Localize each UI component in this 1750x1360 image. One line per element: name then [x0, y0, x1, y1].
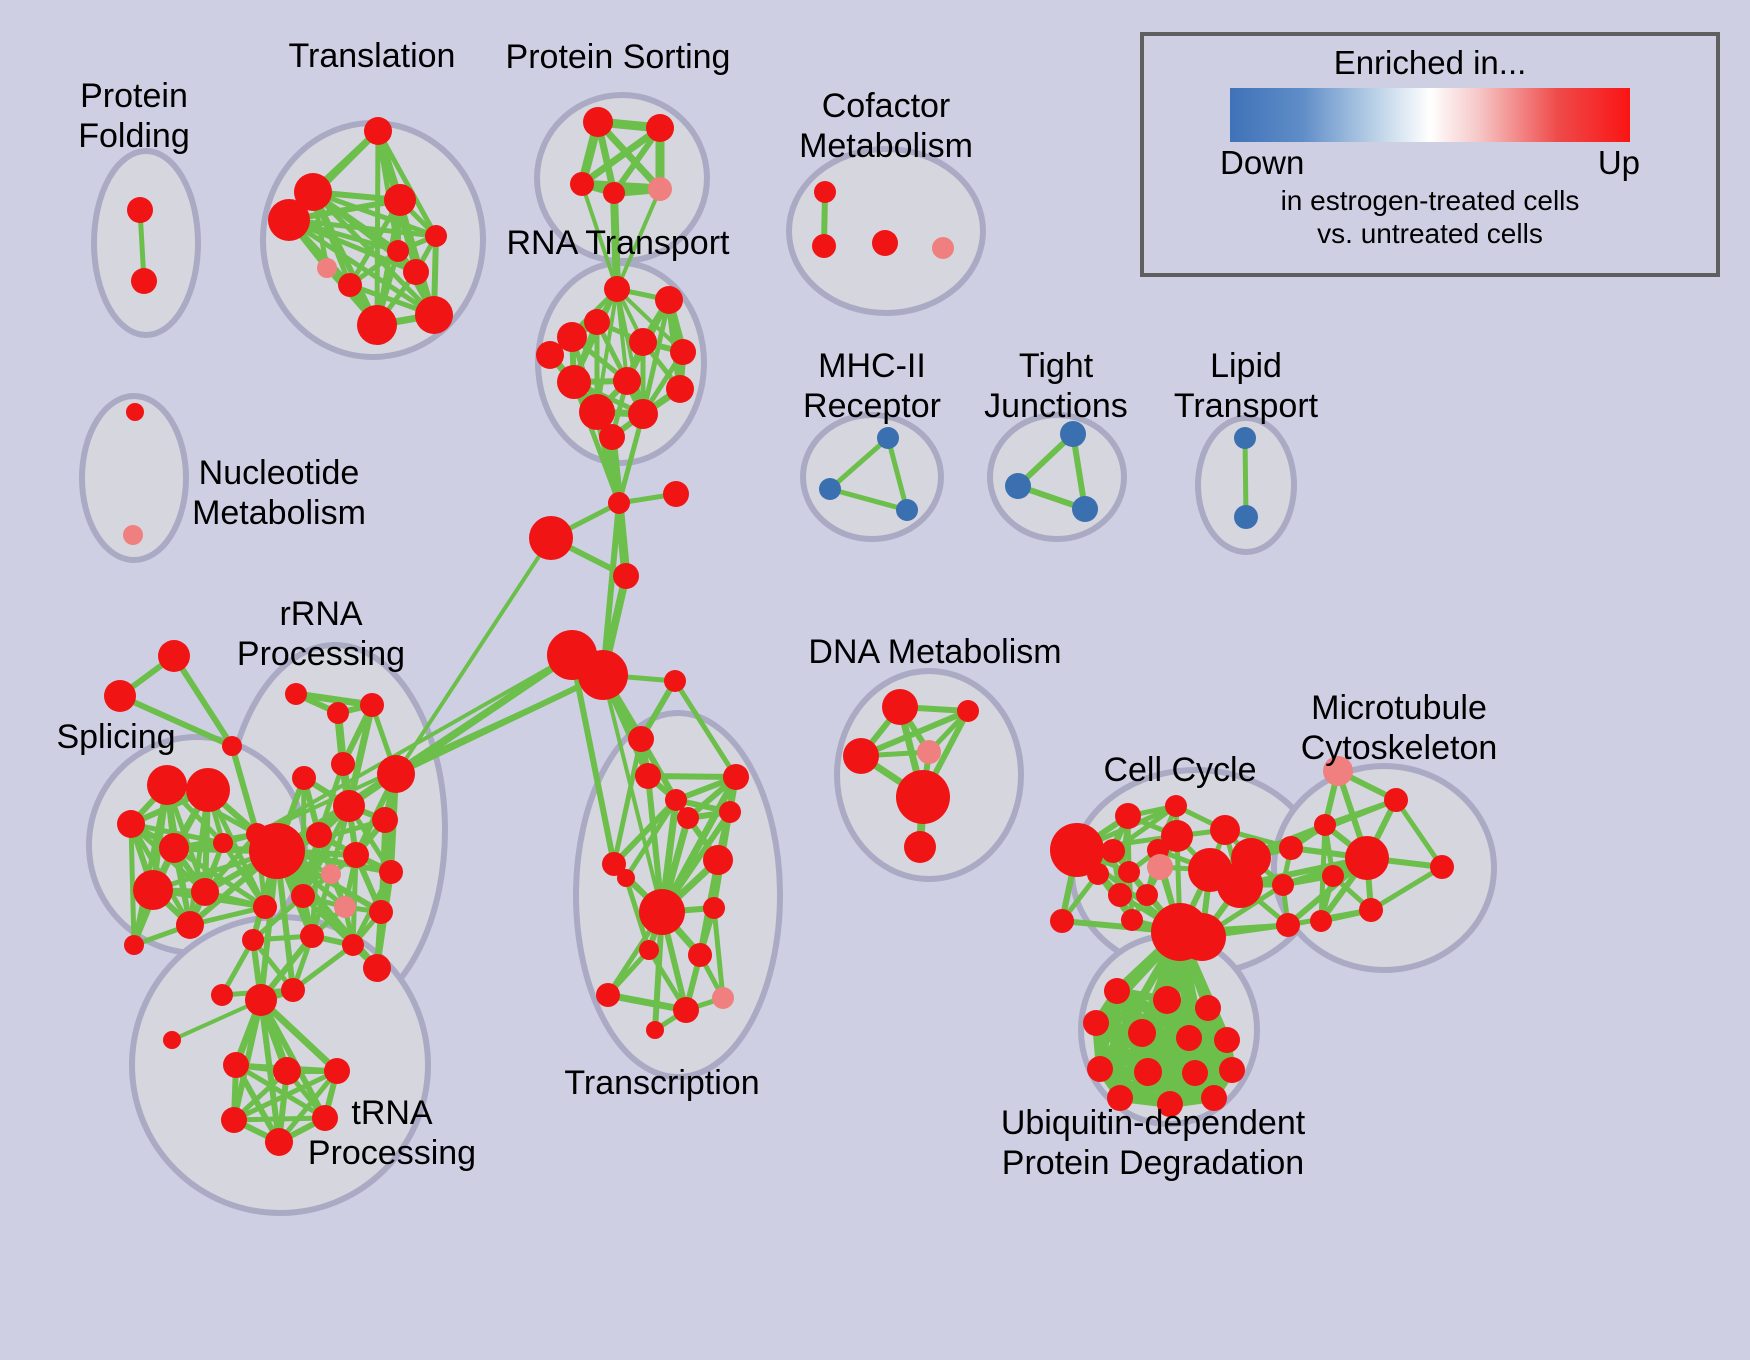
network-node[interactable] [665, 789, 687, 811]
legend-subtitle-line1: in estrogen-treated cells [1281, 184, 1580, 217]
label-mhc-ii-receptor: MHC-IIReceptor [803, 347, 941, 425]
network-node[interactable] [1108, 883, 1132, 907]
network-node[interactable] [583, 107, 613, 137]
legend-subtitle: in estrogen-treated cells vs. untreated … [1281, 184, 1580, 250]
network-node[interactable] [1087, 1056, 1113, 1082]
network-node[interactable] [343, 842, 369, 868]
network-node[interactable] [291, 884, 315, 908]
network-node[interactable] [384, 184, 416, 216]
network-node[interactable] [363, 954, 391, 982]
network-node[interactable] [372, 807, 398, 833]
network-node[interactable] [379, 860, 403, 884]
network-node[interactable] [639, 940, 659, 960]
network-node[interactable] [677, 807, 699, 829]
network-node[interactable] [1384, 788, 1408, 812]
network-node[interactable] [608, 492, 630, 514]
network-node[interactable] [712, 987, 734, 1009]
network-node[interactable] [655, 286, 683, 314]
network-node[interactable] [1430, 855, 1454, 879]
network-node[interactable] [1214, 1027, 1240, 1053]
network-node[interactable] [364, 117, 392, 145]
network-node[interactable] [357, 305, 397, 345]
network-node[interactable] [1083, 1010, 1109, 1036]
network-node[interactable] [104, 680, 136, 712]
network-node[interactable] [221, 1107, 247, 1133]
network-node[interactable] [1165, 795, 1187, 817]
network-node[interactable] [1115, 803, 1141, 829]
network-node[interactable] [957, 700, 979, 722]
network-node[interactable] [1310, 910, 1332, 932]
network-node[interactable] [403, 259, 429, 285]
network-node[interactable] [1134, 1058, 1162, 1086]
network-node[interactable] [338, 273, 362, 297]
legend-title: Enriched in... [1334, 44, 1527, 82]
label-tight-junctions: TightJunctions [984, 347, 1128, 425]
network-node[interactable] [300, 924, 324, 948]
network-edge [648, 776, 736, 777]
network-node[interactable] [1005, 473, 1031, 499]
network-edge [131, 824, 134, 945]
network-node[interactable] [663, 481, 689, 507]
network-node[interactable] [646, 1021, 664, 1039]
network-node[interactable] [285, 683, 307, 705]
hull-mhc-ii [803, 415, 941, 539]
network-node[interactable] [628, 726, 654, 752]
network-node[interactable] [1276, 913, 1300, 937]
network-node[interactable] [1050, 909, 1074, 933]
network-node[interactable] [425, 225, 447, 247]
network-node[interactable] [904, 831, 936, 863]
network-node[interactable] [387, 240, 409, 262]
network-node[interactable] [1153, 986, 1181, 1014]
label-translation: Translation [289, 37, 456, 75]
label-ubiquitin: Ubiquitin-dependentProtein Degradation [1001, 1104, 1306, 1182]
legend-high-label: Up [1598, 144, 1640, 182]
network-node[interactable] [1195, 995, 1221, 1021]
label-nucleotide-metabolism: NucleotideMetabolism [192, 454, 366, 532]
network-node[interactable] [268, 199, 310, 241]
network-node[interactable] [578, 650, 628, 700]
network-node[interactable] [211, 984, 233, 1006]
network-node[interactable] [814, 181, 836, 203]
network-node[interactable] [312, 1105, 338, 1131]
network-node[interactable] [1234, 505, 1258, 529]
network-node[interactable] [703, 845, 733, 875]
network-node[interactable] [292, 766, 316, 790]
network-node[interactable] [126, 403, 144, 421]
network-node[interactable] [124, 935, 144, 955]
network-node[interactable] [529, 516, 573, 560]
network-node[interactable] [1279, 836, 1303, 860]
network-node[interactable] [360, 693, 384, 717]
network-node[interactable] [1128, 1019, 1156, 1047]
network-node[interactable] [602, 852, 626, 876]
network-node[interactable] [253, 895, 277, 919]
network-node[interactable] [131, 268, 157, 294]
network-node[interactable] [599, 424, 625, 450]
network-node[interactable] [1359, 898, 1383, 922]
label-lipid-transport: LipidTransport [1174, 347, 1319, 425]
network-node[interactable] [557, 365, 591, 399]
network-node[interactable] [596, 983, 620, 1007]
network-node[interactable] [536, 341, 564, 369]
network-node[interactable] [342, 934, 364, 956]
network-node[interactable] [377, 755, 415, 793]
network-node[interactable] [324, 1058, 350, 1084]
network-node[interactable] [613, 563, 639, 589]
network-node[interactable] [1219, 1057, 1245, 1083]
network-node[interactable] [628, 399, 658, 429]
label-transcription: Transcription [564, 1064, 759, 1102]
network-node[interactable] [819, 478, 841, 500]
network-node[interactable] [629, 328, 657, 356]
network-node[interactable] [1272, 874, 1294, 896]
network-node[interactable] [327, 702, 349, 724]
network-node[interactable] [896, 499, 918, 521]
label-cell-cycle: Cell Cycle [1103, 751, 1256, 789]
network-node[interactable] [265, 1128, 293, 1156]
label-rna-transport: RNA Transport [507, 224, 731, 262]
network-node[interactable] [1314, 814, 1336, 836]
network-node[interactable] [242, 929, 264, 951]
network-node[interactable] [584, 309, 610, 335]
network-node[interactable] [317, 258, 337, 278]
network-node[interactable] [133, 870, 173, 910]
network-node[interactable] [127, 197, 153, 223]
network-node[interactable] [646, 114, 674, 142]
network-node[interactable] [882, 689, 918, 725]
network-node[interactable] [163, 1031, 181, 1049]
network-node[interactable] [872, 230, 898, 256]
network-node[interactable] [673, 997, 699, 1023]
network-node[interactable] [1147, 854, 1173, 880]
color-legend: Enriched in... Down Up in estrogen-treat… [1140, 32, 1720, 277]
label-protein-sorting: Protein Sorting [506, 38, 731, 76]
network-node[interactable] [1217, 862, 1263, 908]
network-node[interactable] [1178, 913, 1226, 961]
network-node[interactable] [1087, 863, 1109, 885]
network-edge [234, 1118, 325, 1120]
network-node[interactable] [1072, 496, 1098, 522]
network-node[interactable] [159, 833, 189, 863]
network-node[interactable] [249, 823, 305, 879]
network-node[interactable] [664, 670, 686, 692]
network-node[interactable] [603, 182, 625, 204]
network-node[interactable] [186, 768, 230, 812]
network-node[interactable] [639, 889, 685, 935]
network-node[interactable] [245, 984, 277, 1016]
network-node[interactable] [158, 640, 190, 672]
label-dna-metabolism: DNA Metabolism [808, 633, 1061, 671]
network-node[interactable] [1118, 861, 1140, 883]
network-node[interactable] [570, 172, 594, 196]
legend-subtitle-line2: vs. untreated cells [1317, 217, 1543, 250]
network-node[interactable] [273, 1057, 301, 1085]
network-node[interactable] [1121, 909, 1143, 931]
network-node[interactable] [1345, 836, 1389, 880]
network-node[interactable] [281, 978, 305, 1002]
network-node[interactable] [222, 736, 242, 756]
network-node[interactable] [176, 911, 204, 939]
network-node[interactable] [1104, 978, 1130, 1004]
label-cofactor-metabolism: CofactorMetabolism [799, 87, 973, 165]
network-node[interactable] [191, 878, 219, 906]
network-node[interactable] [306, 822, 332, 848]
network-node[interactable] [688, 943, 712, 967]
network-node[interactable] [613, 367, 641, 395]
network-node[interactable] [648, 177, 672, 201]
label-protein-folding: ProteinFolding [78, 77, 190, 155]
network-node[interactable] [932, 237, 954, 259]
network-node[interactable] [917, 740, 941, 764]
label-splicing: Splicing [56, 718, 175, 756]
network-node[interactable] [670, 339, 696, 365]
legend-endpoint-labels: Down Up [1220, 144, 1640, 182]
network-node[interactable] [369, 900, 393, 924]
network-node[interactable] [1101, 839, 1125, 863]
network-node[interactable] [719, 801, 741, 823]
network-node[interactable] [635, 763, 661, 789]
network-node[interactable] [223, 1052, 249, 1078]
network-node[interactable] [1234, 427, 1256, 449]
network-node[interactable] [415, 296, 453, 334]
hull-protein-folding [94, 151, 198, 335]
network-node[interactable] [666, 375, 694, 403]
network-node[interactable] [877, 427, 899, 449]
network-node[interactable] [604, 276, 630, 302]
network-node[interactable] [334, 896, 356, 918]
network-node[interactable] [123, 525, 143, 545]
network-node[interactable] [812, 234, 836, 258]
network-node[interactable] [147, 765, 187, 805]
network-node[interactable] [1182, 1060, 1208, 1086]
network-node[interactable] [1136, 884, 1158, 906]
network-node[interactable] [213, 833, 233, 853]
network-node[interactable] [723, 764, 749, 790]
network-node[interactable] [1176, 1025, 1202, 1051]
label-microtubule: MicrotubuleCytoskeleton [1301, 689, 1498, 767]
network-node[interactable] [333, 790, 365, 822]
legend-low-label: Down [1220, 144, 1304, 182]
network-node[interactable] [1322, 865, 1344, 887]
network-node[interactable] [117, 810, 145, 838]
network-node[interactable] [1210, 815, 1240, 845]
label-rrna-processing: rRNAProcessing [237, 595, 405, 673]
network-node[interactable] [331, 752, 355, 776]
network-node[interactable] [321, 864, 341, 884]
legend-gradient-bar [1230, 88, 1630, 142]
network-node[interactable] [703, 897, 725, 919]
network-node[interactable] [843, 738, 879, 774]
network-node[interactable] [896, 770, 950, 824]
